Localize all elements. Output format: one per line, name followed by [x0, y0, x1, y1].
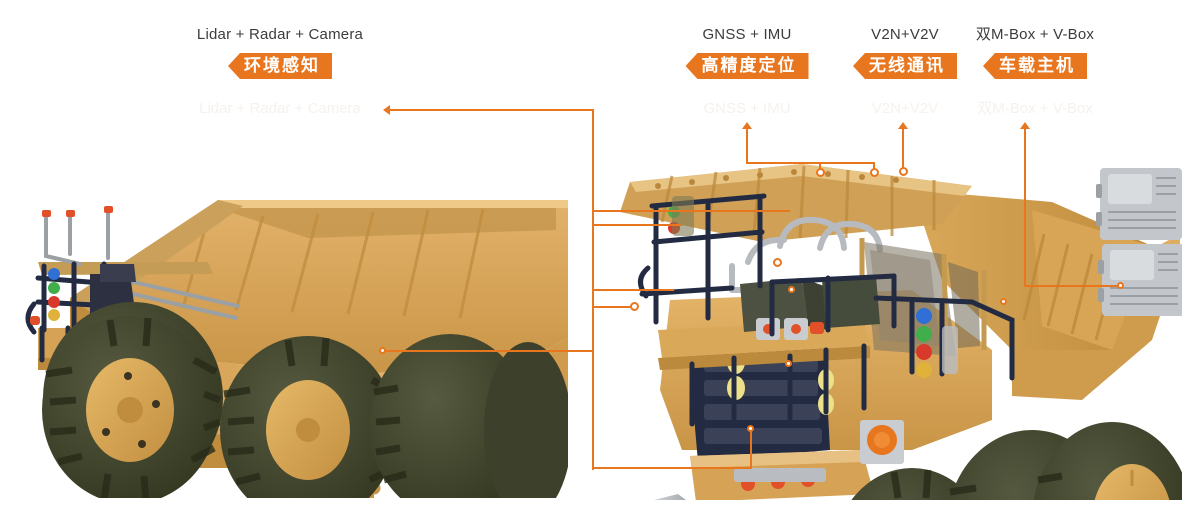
mining-truck-rear-left — [8, 178, 568, 498]
mbox-bar-line — [1024, 285, 1120, 287]
v2n-node — [899, 167, 908, 176]
gnss-arrow-icon — [742, 122, 752, 129]
callout-positioning-subtitle: GNSS + IMU — [674, 25, 820, 45]
branch-line-2 — [592, 224, 682, 226]
bottom-leader-riser — [750, 428, 752, 468]
callout-perception-badge[interactable]: 环境感知 — [228, 53, 332, 79]
mbox-node — [1117, 282, 1124, 289]
v2n-stem-line — [902, 128, 904, 170]
callout-positioning-ghost: GNSS + IMU — [674, 99, 820, 119]
branch-node-4 — [630, 302, 639, 311]
gnss-node-2 — [870, 168, 879, 177]
bottom-leader-line — [592, 467, 752, 469]
callout-onboard-unit-subtitle: 双M-Box + V-Box — [968, 25, 1102, 45]
callout-onboard-unit-badge[interactable]: 车载主机 — [983, 53, 1087, 79]
callout-onboard-unit-ghost: 双M-Box + V-Box — [968, 99, 1102, 119]
perception-arrow-icon — [383, 105, 390, 115]
callout-wireless-badge[interactable]: 无线通讯 — [853, 53, 957, 79]
mbox-arrow-icon — [1020, 122, 1030, 129]
callout-wireless[interactable]: V2N+V2V 无线通讯 V2N+V2V — [849, 25, 961, 79]
mining-truck-front-right — [612, 150, 1182, 500]
callout-perception-ghost: Lidar + Radar + Camera — [186, 99, 374, 119]
perception-leader-line — [390, 109, 594, 111]
mbox-stem-line — [1024, 128, 1026, 286]
branch-line-1 — [592, 210, 790, 212]
callout-positioning-badge[interactable]: 高精度定位 — [686, 53, 809, 79]
diagram-canvas: Lidar + Radar + Camera 环境感知 Lidar + Rada… — [0, 0, 1200, 518]
left-truck-illustration — [8, 178, 568, 498]
cab-node-c — [1000, 298, 1007, 305]
callout-wireless-subtitle: V2N+V2V — [849, 25, 961, 45]
branch-line-3 — [592, 289, 674, 291]
left-truck-leader-line — [382, 350, 594, 352]
callout-wireless-ghost: V2N+V2V — [849, 99, 961, 119]
callout-perception[interactable]: Lidar + Radar + Camera 环境感知 Lidar + Rada… — [186, 25, 374, 79]
deck-node-d — [788, 286, 795, 293]
canopy-node-b — [785, 360, 792, 367]
canopy-node-a — [773, 258, 782, 267]
gnss-node-1 — [816, 168, 825, 177]
gnss-stem-line — [746, 128, 748, 164]
right-truck-illustration — [612, 150, 1182, 500]
gnss-bar-line — [746, 162, 875, 164]
bottom-sensor-node — [747, 425, 754, 432]
callout-onboard-unit[interactable]: 双M-Box + V-Box 车载主机 双M-Box + V-Box — [968, 25, 1102, 79]
callout-positioning[interactable]: GNSS + IMU 高精度定位 GNSS + IMU — [674, 25, 820, 79]
v2n-arrow-icon — [898, 122, 908, 129]
callout-perception-subtitle: Lidar + Radar + Camera — [186, 25, 374, 45]
left-truck-node — [379, 347, 386, 354]
